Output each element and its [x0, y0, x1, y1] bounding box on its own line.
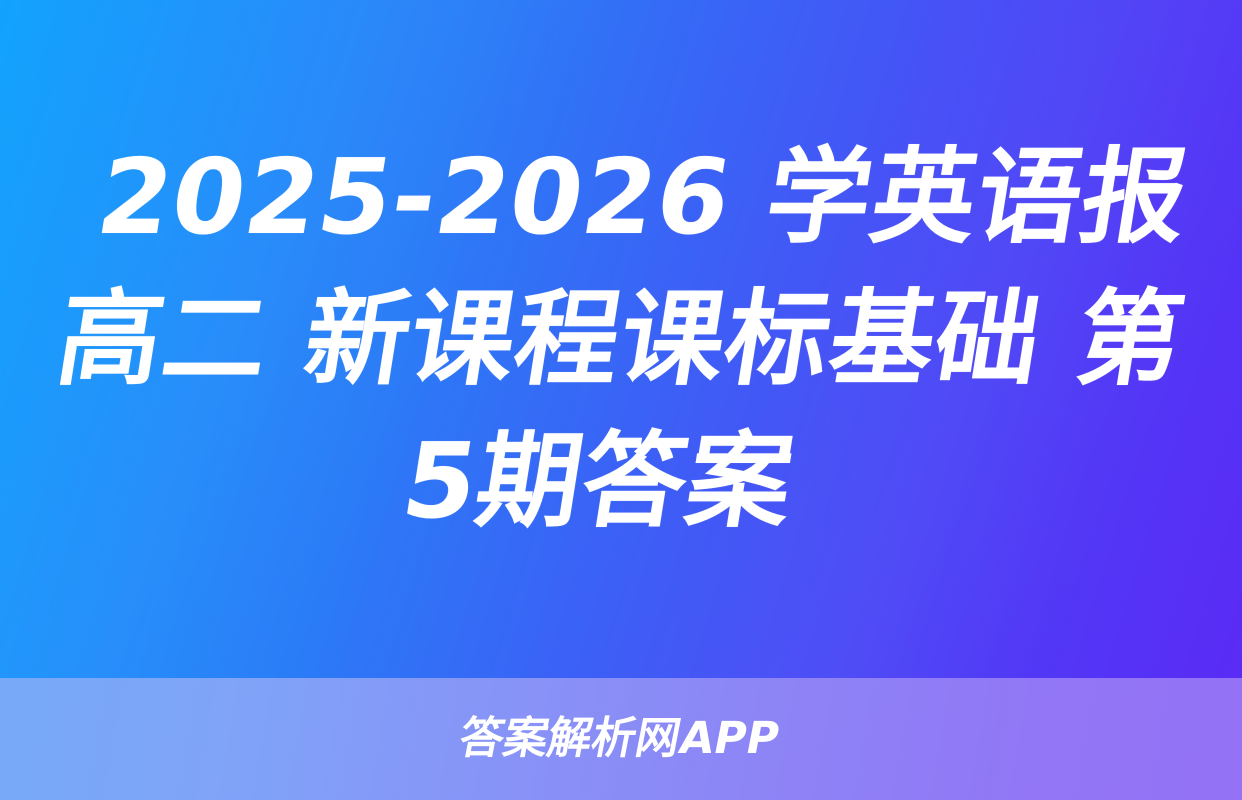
page-title: 2025-2026 学英语报 高二 新课程课标基础 第5期答案 [24, 126, 1217, 552]
footer-watermark-band: 答案解析网APP [0, 678, 1242, 800]
promo-poster: 2025-2026 学英语报 高二 新课程课标基础 第5期答案 答案解析网APP [0, 0, 1242, 800]
hero-title-container: 2025-2026 学英语报 高二 新课程课标基础 第5期答案 [0, 0, 1242, 678]
app-watermark-label: 答案解析网APP [455, 717, 782, 761]
